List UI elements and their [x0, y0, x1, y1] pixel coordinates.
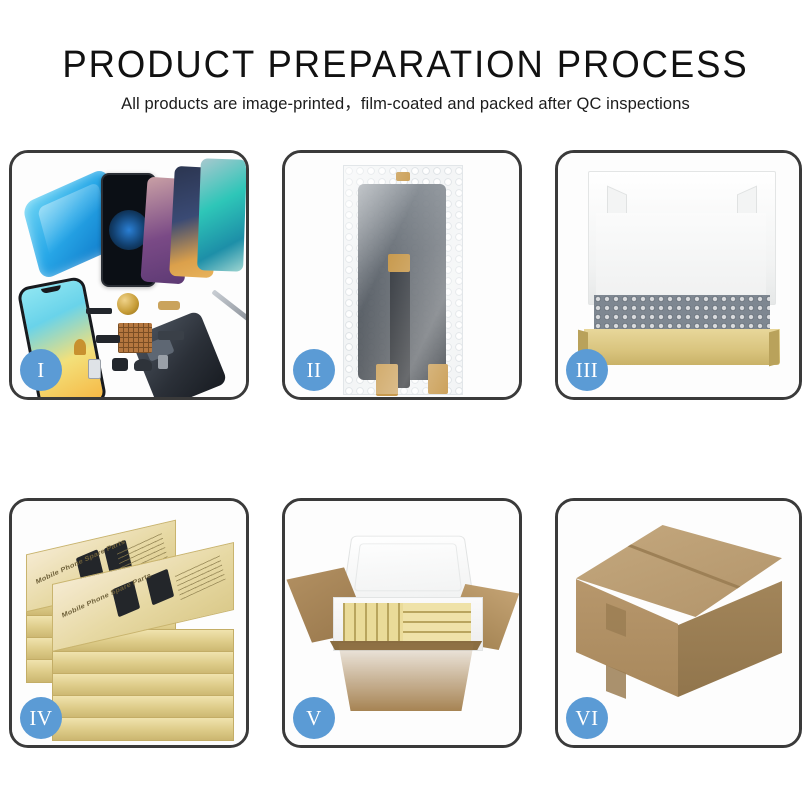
stacked-box-layer	[52, 651, 234, 675]
process-panel-grid: I II	[9, 150, 802, 748]
panel-badge-3: III	[566, 349, 608, 391]
tray-end-right-icon	[769, 330, 779, 367]
stacked-box-layer	[52, 673, 234, 697]
sim-tray-icon	[158, 355, 168, 369]
process-panel-6[interactable]: VI	[555, 498, 802, 748]
process-panel-4[interactable]: Mobile Phone Spare Parts Mobile Phone Sp…	[9, 498, 249, 748]
chip-grid-icon	[118, 323, 152, 353]
bubble-wrap-icon	[343, 165, 463, 395]
foam-lid-icon	[342, 536, 474, 602]
panel-badge-6: VI	[566, 697, 608, 739]
page-subtitle: All products are image-printed，film-coat…	[0, 85, 811, 114]
panel-badge-4: IV	[20, 697, 62, 739]
process-panel-1[interactable]: I	[9, 150, 249, 400]
flex-cable-icon	[86, 308, 112, 314]
foam-liner-icon	[596, 213, 766, 297]
gold-connector-icon	[158, 301, 180, 310]
connector-bottom-left-icon	[376, 364, 398, 396]
gold-boxes-fill-secondary-icon	[403, 603, 471, 643]
stacked-box-layer	[52, 717, 234, 741]
camera-module-icon	[112, 358, 128, 371]
connector-bottom-right-icon	[428, 364, 448, 394]
tweezer-icon	[211, 289, 249, 321]
connector-top-icon	[388, 254, 410, 272]
page-header: PRODUCT PREPARATION PROCESS All products…	[0, 0, 811, 114]
bubble-wrapped-contents-icon	[594, 295, 770, 331]
process-panel-2[interactable]: II	[282, 150, 522, 400]
box-stack-front: Mobile Phone Spare Parts	[52, 563, 232, 723]
panel-badge-1: I	[20, 349, 62, 391]
battery-icon	[88, 359, 101, 379]
stacked-box-layer	[52, 695, 234, 719]
panel-badge-5: V	[293, 697, 335, 739]
gold-coil-icon	[117, 293, 139, 315]
panel-badge-2: II	[293, 349, 335, 391]
box-brand-label-front: Mobile Phone Spare Parts	[61, 572, 151, 619]
ribbon-cable-icon	[96, 335, 120, 343]
kraft-tray-icon	[584, 329, 780, 365]
module-icon	[158, 331, 184, 340]
vibration-motor-icon	[74, 339, 86, 355]
process-panel-5[interactable]: V	[282, 498, 522, 748]
phone-teal-icon	[197, 158, 247, 272]
process-panel-3[interactable]: III	[555, 150, 802, 400]
spec-lines-icon	[174, 554, 225, 601]
speaker-icon	[134, 359, 152, 371]
tape-tab-icon	[396, 172, 410, 181]
carton-front-icon	[329, 643, 483, 711]
page-title: PRODUCT PREPARATION PROCESS	[16, 0, 795, 85]
